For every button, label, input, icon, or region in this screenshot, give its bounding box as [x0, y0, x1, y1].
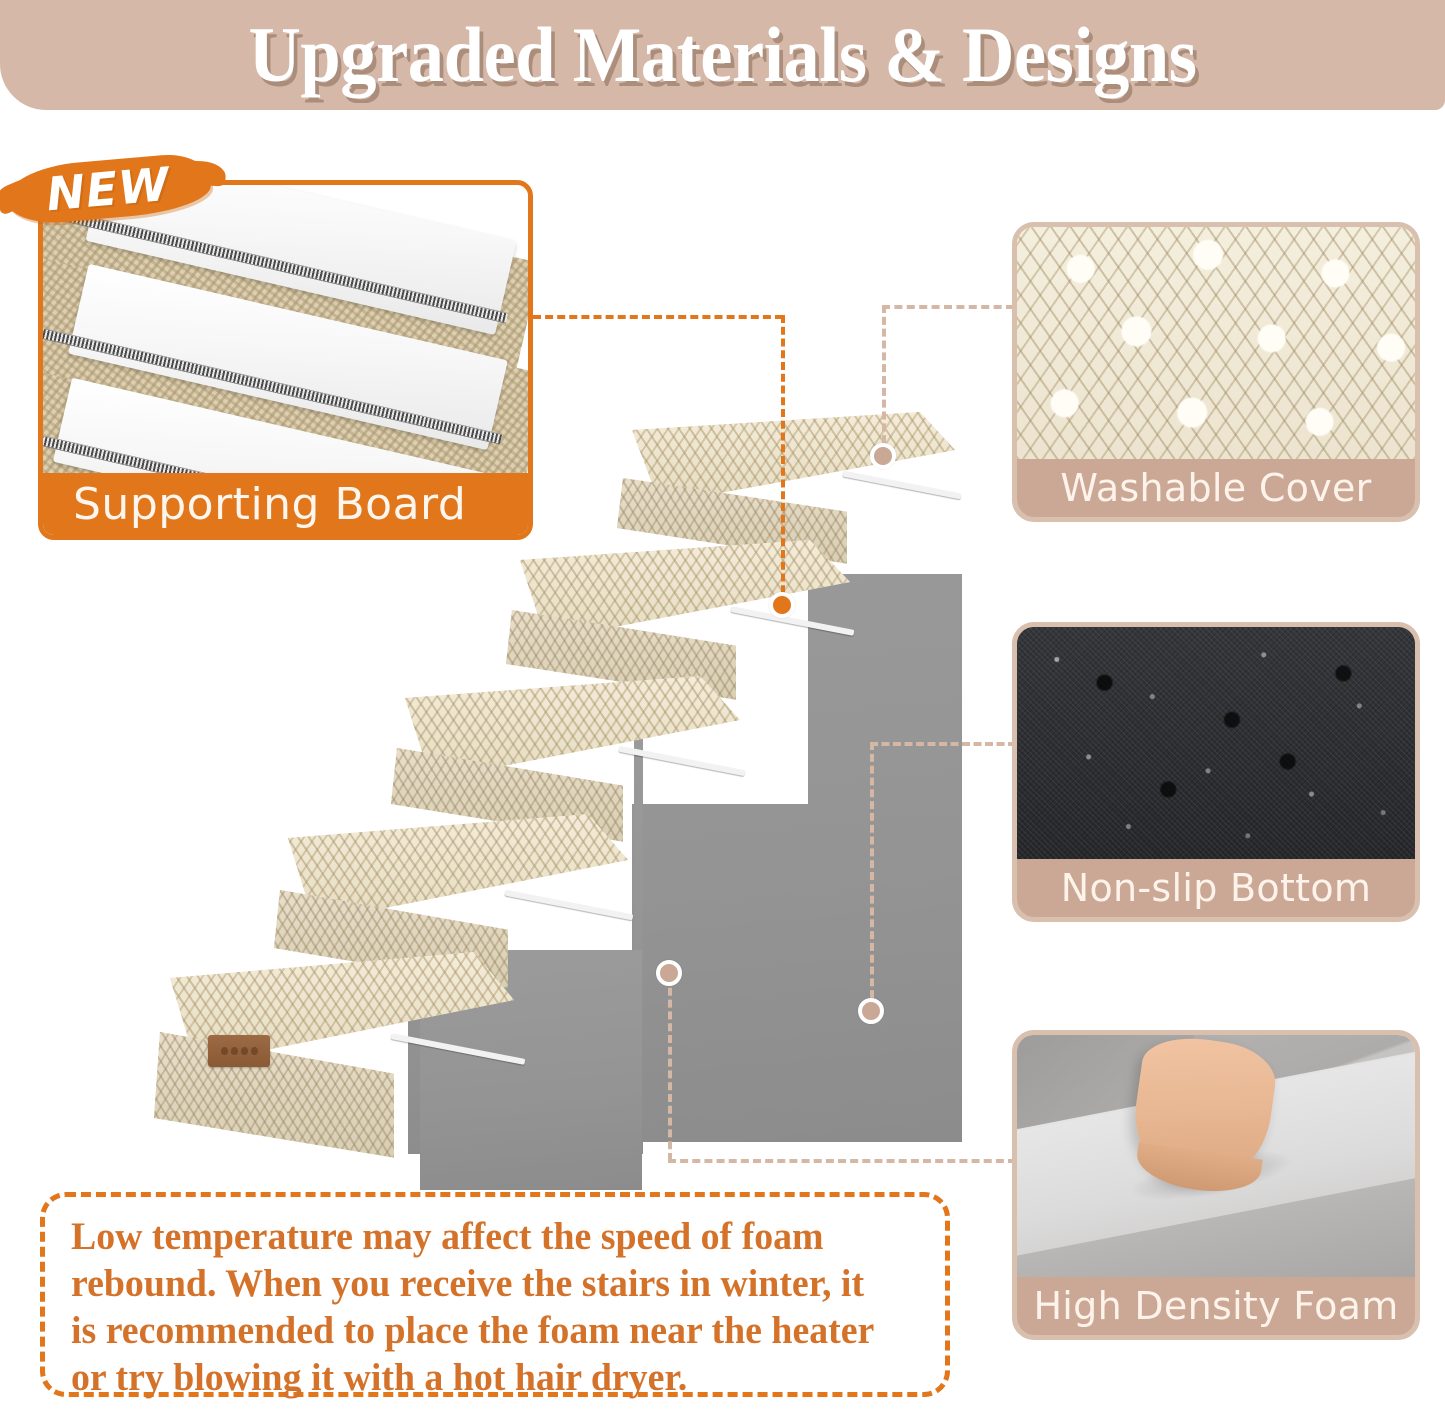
paw-icon	[231, 1047, 238, 1055]
connector-line	[781, 315, 785, 605]
high-density-foam-label: High Density Foam	[1033, 1284, 1398, 1328]
new-badge-label: NEW	[3, 149, 213, 229]
washable-cover-photo	[1017, 227, 1415, 459]
non-slip-bottom-photo	[1017, 627, 1415, 859]
connector-line	[882, 305, 886, 455]
panel-washable-cover[interactable]: Washable Cover	[1012, 222, 1420, 522]
header-banner: Upgraded Materials & Designs	[0, 0, 1445, 110]
connector-dot-supporting-board	[769, 592, 795, 618]
connector-dot-non-slip-bottom	[858, 998, 884, 1024]
non-slip-bottom-label: Non-slip Bottom	[1061, 866, 1371, 910]
non-slip-bottom-caption-bar: Non-slip Bottom	[1017, 859, 1415, 917]
panel-high-density-foam[interactable]: High Density Foam	[1012, 1030, 1420, 1340]
connector-dot-washable-cover	[870, 443, 896, 469]
connector-line	[882, 305, 1014, 309]
foam-texture	[1017, 1035, 1415, 1277]
connector-line	[533, 315, 783, 319]
connector-dot-high-density-foam	[656, 960, 682, 986]
connector-line	[668, 976, 672, 1161]
connector-line	[668, 1159, 1016, 1163]
knit-fabric-texture	[1017, 227, 1415, 459]
connector-line	[870, 742, 1016, 746]
paw-icon	[251, 1047, 258, 1055]
panel-non-slip-bottom[interactable]: Non-slip Bottom	[1012, 622, 1420, 922]
hand-icon	[1127, 1035, 1281, 1189]
connector-line	[870, 742, 874, 1010]
stair-seam-2	[505, 890, 634, 921]
stair-seam-5	[843, 471, 962, 500]
brand-paw-tag	[208, 1035, 270, 1067]
warning-text: Low temperature may affect the speed of …	[71, 1213, 894, 1401]
page-title: Upgraded Materials & Designs	[51, 0, 1395, 110]
stair-riser-1	[154, 1030, 394, 1158]
washable-cover-label: Washable Cover	[1060, 466, 1371, 510]
paw-icon	[241, 1047, 248, 1055]
infographic-stage: Upgraded Materials & Designs Supporting …	[0, 0, 1445, 1428]
warning-box: Low temperature may affect the speed of …	[40, 1192, 950, 1397]
high-density-foam-photo	[1017, 1035, 1415, 1277]
high-density-foam-caption-bar: High Density Foam	[1017, 1277, 1415, 1335]
non-slip-fabric-texture	[1017, 627, 1415, 859]
product-pet-stairs	[120, 390, 1020, 1180]
paw-icon	[221, 1047, 228, 1055]
washable-cover-caption-bar: Washable Cover	[1017, 459, 1415, 517]
